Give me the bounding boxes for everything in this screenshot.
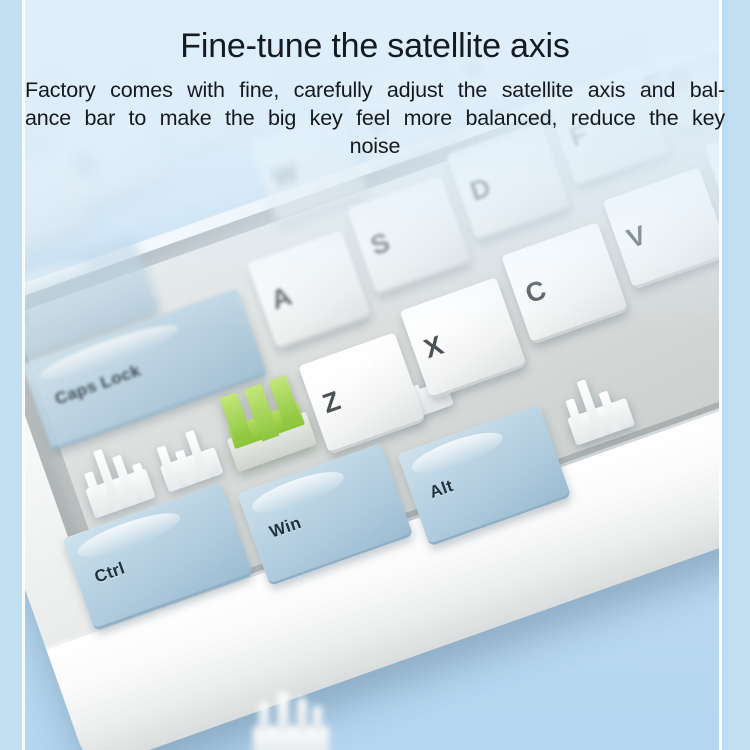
key-legend: C	[522, 276, 549, 308]
header-block: Fine-tune the satellite axis Factory com…	[0, 0, 750, 185]
key-legend: Caps Lock	[53, 362, 143, 408]
page-title: Fine-tune the satellite axis	[4, 0, 746, 66]
key-legend: A	[268, 283, 295, 315]
key-legend: Z	[319, 387, 344, 418]
subtitle-line-1: Factory comes with fine, carefully adjus…	[25, 76, 725, 104]
subtitle-line-2: ance bar to make the big key feel more b…	[25, 104, 725, 132]
key-legend: Tab	[25, 307, 26, 333]
subtitle-line-3: noise	[25, 132, 725, 160]
key-legend: S	[367, 229, 393, 260]
key-legend: V	[624, 222, 650, 253]
key-legend: Ctrl	[92, 559, 127, 585]
key-legend: Win	[267, 514, 303, 541]
page-subtitle: Factory comes with fine, carefully adjus…	[25, 76, 725, 160]
product-banner: Q Q Q Q Tab	[0, 0, 750, 750]
key-legend: X	[421, 332, 447, 363]
key-legend: Alt	[427, 477, 455, 501]
loose-stabilizer-part	[243, 684, 338, 750]
